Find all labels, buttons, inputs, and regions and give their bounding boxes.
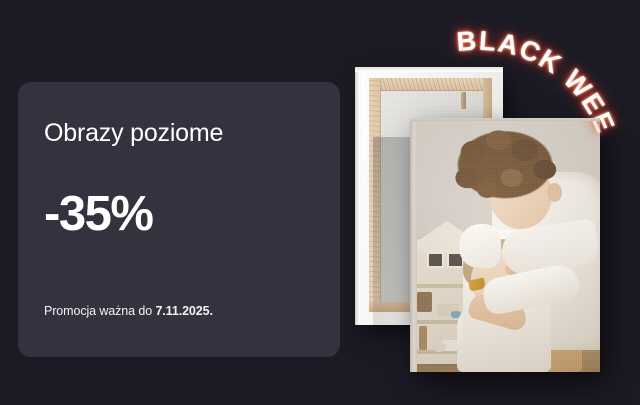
blank-canvas-bevel-left <box>355 67 361 325</box>
dollhouse-furniture <box>433 342 446 352</box>
photo-canvas-edge-top <box>410 118 600 121</box>
stretcher-bar-left <box>369 78 381 312</box>
dollhouse-furniture <box>417 292 432 312</box>
canvas-hanger <box>461 92 466 109</box>
page-title: Obrazy poziome <box>44 120 314 148</box>
dollhouse-furniture <box>419 326 427 350</box>
dollhouse-window <box>427 252 444 268</box>
blank-canvas-bevel-top <box>355 67 503 72</box>
promo-card[interactable]: Obrazy poziome -35% Promocja ważna do 7.… <box>18 82 340 357</box>
discount-value: -35% <box>44 148 314 239</box>
promo-validity-prefix: Promocja ważna do <box>44 304 155 318</box>
stretcher-bar-top <box>369 78 492 91</box>
promo-validity-date: 7.11.2025. <box>155 304 212 318</box>
photo-canvas-edge <box>410 118 417 372</box>
promo-validity: Promocja ważna do 7.11.2025. <box>44 304 314 331</box>
photo-canvas-image <box>417 121 600 372</box>
card-spacer <box>44 239 314 305</box>
girl-sleeve <box>459 224 501 268</box>
photo-canvas-children <box>410 118 600 372</box>
promo-banner: Obrazy poziome -35% Promocja ważna do 7.… <box>0 0 640 405</box>
boy-curly-hair <box>450 127 560 209</box>
